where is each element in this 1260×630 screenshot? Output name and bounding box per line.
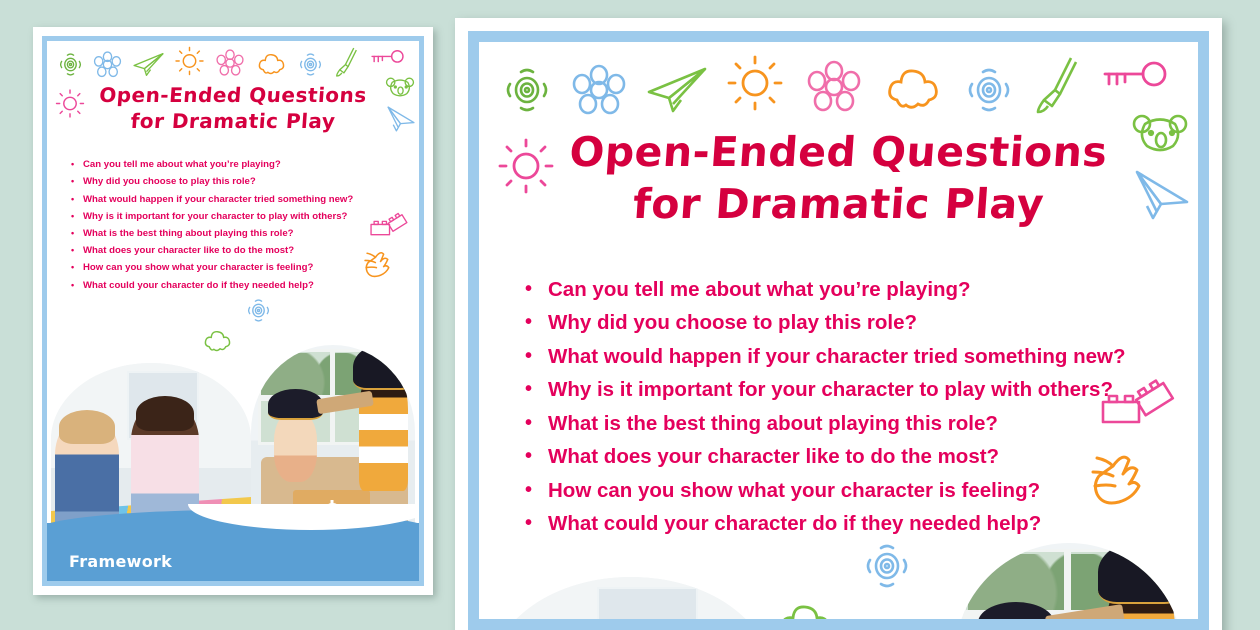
spiral-green-icon (501, 64, 553, 116)
bullet-icon: • (71, 225, 83, 242)
bullet-icon: • (525, 373, 548, 407)
bullet-icon: • (71, 156, 83, 173)
bullet-icon: • (525, 273, 548, 307)
list-item: •What is the best thing about playing th… (525, 407, 1198, 441)
poster-thumbnail-frame: Open-Ended Questions for Dramatic Play •… (42, 36, 424, 586)
bullet-icon: • (71, 277, 83, 294)
list-item: •What could your character do if they ne… (71, 277, 419, 294)
bullet-icon: • (525, 407, 548, 441)
spiral-green-icon (57, 51, 84, 78)
poster-preview-card[interactable]: Open-Ended Questions for Dramatic Play •… (455, 18, 1222, 630)
flower-blue-icon (571, 64, 627, 116)
question-text: How can you show what your character is … (83, 259, 313, 276)
photo-area (479, 515, 1198, 619)
flower-pink-icon (805, 60, 863, 114)
bullet-icon: • (71, 242, 83, 259)
bullet-icon: • (525, 306, 548, 340)
question-text: What would happen if your character trie… (83, 191, 353, 208)
cloud-orange-icon (885, 62, 943, 112)
question-text: Can you tell me about what you’re playin… (83, 156, 281, 173)
paintbrush-green-icon (335, 47, 358, 77)
list-item: •Can you tell me about what you’re playi… (71, 156, 419, 173)
question-text: What could your character do if they nee… (83, 277, 314, 294)
question-text: How can you show what your character is … (548, 474, 1040, 508)
photo-children-pirate-ship (954, 543, 1184, 619)
bullet-icon: • (525, 474, 548, 508)
brand-label: Framework (69, 552, 172, 571)
poster-title-line-1: Open-Ended Questions (47, 83, 419, 109)
flower-blue-icon (93, 51, 122, 78)
question-text: Why did you choose to play this role? (548, 306, 917, 340)
list-item: •Why is it important for your character … (525, 373, 1198, 407)
bullet-icon: • (71, 173, 83, 190)
spiral-blue-icon (963, 64, 1015, 116)
bullet-icon: • (71, 259, 83, 276)
question-list: •Can you tell me about what you’re playi… (71, 156, 419, 294)
question-text: What does your character like to do the … (548, 440, 999, 474)
list-item: •Can you tell me about what you’re playi… (525, 273, 1198, 307)
poster-preview-page: Open-Ended Questions for Dramatic Play •… (479, 42, 1198, 619)
photo-children-tea-party (491, 577, 771, 619)
question-text: Why is it important for your character t… (548, 373, 1113, 407)
list-item: •How can you show what your character is… (525, 474, 1198, 508)
list-item: •Why did you choose to play this role? (71, 173, 419, 190)
flower-pink-icon (215, 49, 245, 77)
poster-title: Open-Ended Questions for Dramatic Play (479, 126, 1198, 231)
spiral-blue-icon (297, 51, 324, 78)
question-text: What is the best thing about playing thi… (548, 407, 998, 441)
poster-thumbnail-page: Open-Ended Questions for Dramatic Play •… (47, 41, 419, 581)
list-item: •How can you show what your character is… (71, 259, 419, 276)
question-text: Can you tell me about what you’re playin… (548, 273, 971, 307)
question-text: What would happen if your character trie… (548, 340, 1125, 374)
list-item: •What would happen if your character tri… (71, 191, 419, 208)
poster-thumbnail-card[interactable]: Open-Ended Questions for Dramatic Play •… (33, 27, 433, 595)
list-item: •What would happen if your character tri… (525, 340, 1198, 374)
cloud-orange-icon (257, 50, 287, 76)
question-text: Why did you choose to play this role? (83, 173, 256, 190)
list-item: •What does your character like to do the… (71, 242, 419, 259)
poster-title: Open-Ended Questions for Dramatic Play (47, 83, 419, 134)
brand-footer: Framework (47, 523, 419, 581)
poster-preview-frame: Open-Ended Questions for Dramatic Play •… (468, 31, 1209, 630)
list-item: •What does your character like to do the… (525, 440, 1198, 474)
question-text: What does your character like to do the … (83, 242, 294, 259)
poster-title-line-2: for Dramatic Play (47, 109, 419, 135)
key-pink-icon (1099, 60, 1167, 98)
list-item: •Why is it important for your character … (71, 208, 419, 225)
paper-plane-green-icon (643, 64, 709, 116)
photo-area: Framework (47, 331, 419, 581)
list-item: •Why did you choose to play this role? (525, 306, 1198, 340)
key-pink-icon (369, 49, 404, 69)
bullet-icon: • (71, 208, 83, 225)
question-text: What is the best thing about playing thi… (83, 225, 294, 242)
paper-plane-green-icon (131, 51, 165, 78)
bullet-icon: • (71, 191, 83, 208)
paintbrush-green-icon (1035, 56, 1079, 114)
spiral-blue-icon (245, 297, 272, 324)
poster-title-line-1: Open-Ended Questions (479, 126, 1198, 178)
poster-title-line-2: for Dramatic Play (479, 178, 1198, 230)
list-item: •What is the best thing about playing th… (71, 225, 419, 242)
bullet-icon: • (525, 440, 548, 474)
bullet-icon: • (525, 340, 548, 374)
question-list: •Can you tell me about what you’re playi… (525, 273, 1198, 541)
sun-orange-icon (727, 56, 783, 110)
question-text: Why is it important for your character t… (83, 208, 347, 225)
sun-orange-icon (175, 47, 204, 75)
